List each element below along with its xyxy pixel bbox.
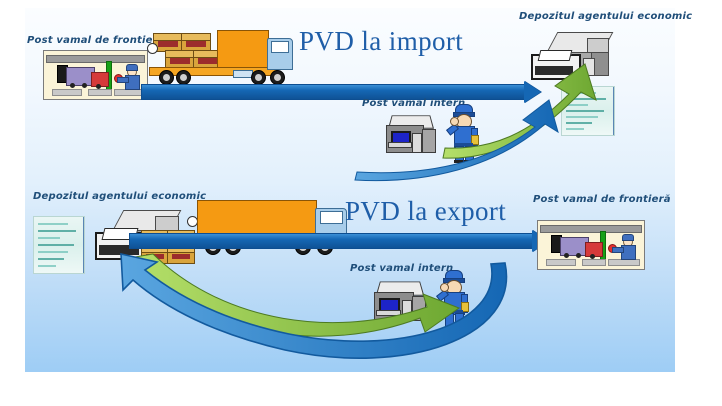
export-destination-label: Post vamal de frontieră [533,194,671,205]
diagram-slide: Post vamal de frontieră [25,8,675,372]
export-title: PVD la export [345,196,506,227]
customs-declaration-icon-export [33,216,85,274]
customs-office-icon-import [382,112,440,156]
warehouse-icon-import [525,28,625,90]
customs-declaration-icon-import [561,86,615,136]
import-main-arrow [141,81,541,103]
customs-office-icon-export [370,278,430,324]
border-post-icon [43,50,148,100]
slide-canvas: Post vamal de frontieră [0,0,722,406]
customs-officer-icon-import [443,104,483,164]
customs-officer-icon-export [433,270,473,332]
import-title: PVD la import [299,26,463,57]
border-post-icon-export [537,220,645,270]
import-destination-label: Depozitul agentului economic [519,11,692,22]
cargo-truck-icon-import [143,26,293,84]
export-main-arrow [129,230,549,252]
